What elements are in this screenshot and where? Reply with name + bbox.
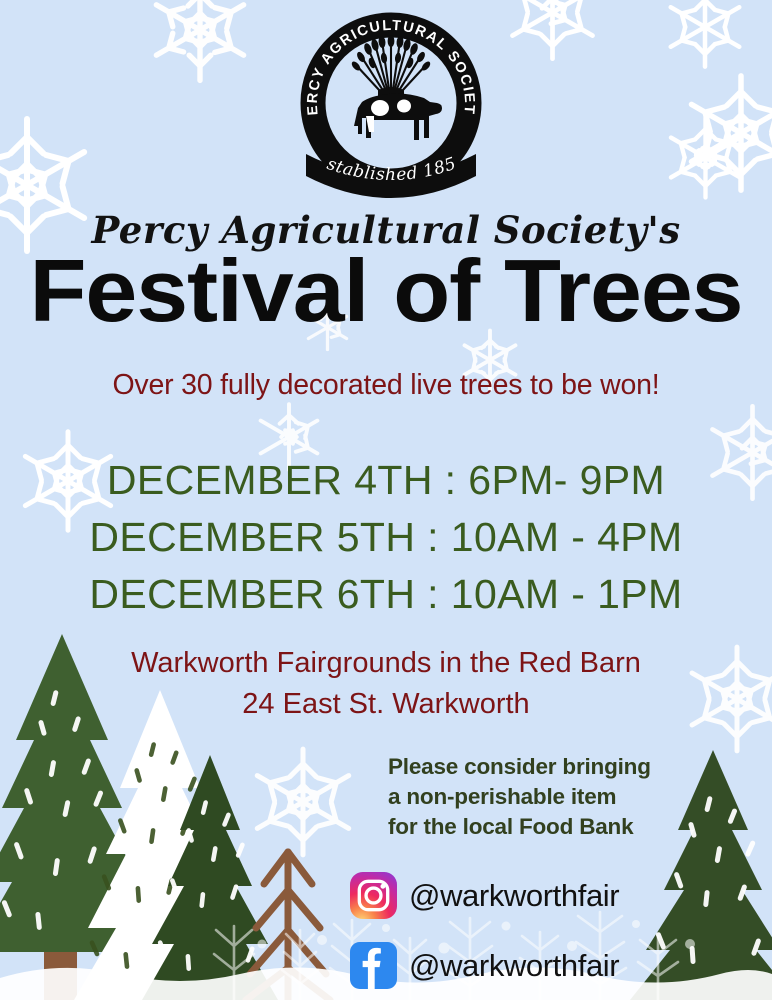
instagram-handle-row[interactable]: @warkworthfair bbox=[350, 872, 619, 919]
snowflake-icon bbox=[676, 68, 772, 198]
page-title: Festival of Trees bbox=[0, 247, 772, 335]
facebook-handle-row[interactable]: @warkworthfair bbox=[350, 942, 619, 989]
venue-address: 24 East St. Warkworth bbox=[0, 684, 772, 725]
venue-block: Warkworth Fairgrounds in the Red Barn 24… bbox=[0, 643, 772, 725]
festival-of-trees-poster: PERCY AGRICULTURAL SOCIETY bbox=[0, 0, 772, 1000]
date-line: DECEMBER 6TH : 10AM - 1PM bbox=[0, 566, 772, 623]
instagram-handle-text[interactable]: @warkworthfair bbox=[409, 878, 619, 914]
tree-line-art-brown bbox=[246, 852, 330, 1000]
instagram-icon[interactable] bbox=[350, 872, 397, 919]
date-line: DECEMBER 4TH : 6PM- 9PM bbox=[0, 452, 772, 509]
facebook-icon[interactable] bbox=[350, 942, 397, 989]
tree-white bbox=[74, 690, 246, 1000]
tree-dark-green-mid bbox=[142, 755, 278, 1000]
food-bank-line: a non-perishable item bbox=[388, 782, 718, 812]
dates-list: DECEMBER 4TH : 6PM- 9PM DECEMBER 5TH : 1… bbox=[0, 452, 772, 623]
facebook-handle-text[interactable]: @warkworthfair bbox=[409, 948, 619, 984]
snowflake-icon bbox=[500, 0, 605, 65]
snowflake-icon bbox=[140, 0, 260, 90]
food-bank-line: for the local Food Bank bbox=[388, 812, 718, 842]
venue-name: Warkworth Fairgrounds in the Red Barn bbox=[0, 643, 772, 684]
snowflake-icon bbox=[660, 0, 750, 72]
food-bank-line: Please consider bringing bbox=[388, 752, 718, 782]
food-bank-note: Please consider bringing a non-perishabl… bbox=[388, 752, 718, 842]
percy-agricultural-society-logo: PERCY AGRICULTURAL SOCIETY bbox=[296, 8, 486, 203]
tagline: Over 30 fully decorated live trees to be… bbox=[0, 369, 772, 402]
snowflake-icon bbox=[243, 742, 363, 862]
date-line: DECEMBER 5TH : 10AM - 4PM bbox=[0, 509, 772, 566]
snowflake-icon bbox=[658, 110, 753, 205]
